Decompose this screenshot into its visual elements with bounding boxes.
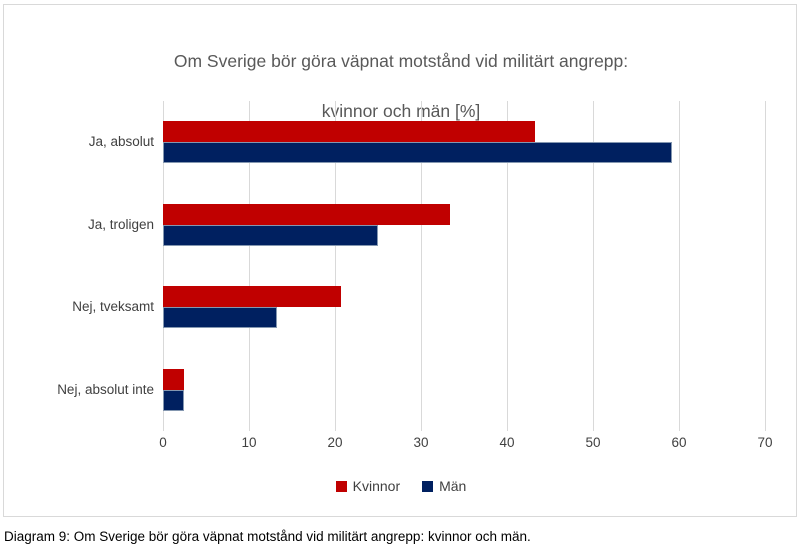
chart-title-line-1: Om Sverige bör göra väpnat motstånd vid … <box>174 51 628 71</box>
x-tick-label-70: 70 <box>745 435 785 450</box>
x-tick-label-50: 50 <box>573 435 613 450</box>
chart-container: Om Sverige bör göra väpnat motstånd vid … <box>3 4 797 517</box>
bar-group-2 <box>163 286 765 328</box>
x-tick-label-10: 10 <box>229 435 269 450</box>
x-tick-label-30: 30 <box>401 435 441 450</box>
category-label-2: Nej, tveksamt <box>4 299 154 315</box>
bar-kvinnor-3[interactable] <box>163 369 184 390</box>
legend-item-män[interactable]: Män <box>422 478 466 494</box>
chart-page: Om Sverige bör göra väpnat motstånd vid … <box>0 0 803 558</box>
legend-swatch-icon-män <box>422 481 433 492</box>
bar-group-0 <box>163 121 765 163</box>
legend-swatch-icon-kvinnor <box>336 481 347 492</box>
bar-män-3[interactable] <box>163 390 184 411</box>
figure-caption: Diagram 9: Om Sverige bör göra väpnat mo… <box>4 528 799 546</box>
category-label-1: Ja, troligen <box>4 217 154 233</box>
x-tick-label-40: 40 <box>487 435 527 450</box>
x-tick-label-60: 60 <box>659 435 699 450</box>
bar-män-1[interactable] <box>163 225 378 246</box>
plot-area <box>163 101 774 431</box>
bar-kvinnor-0[interactable] <box>163 121 535 142</box>
bar-män-2[interactable] <box>163 307 277 328</box>
x-axis-tick-labels: 010203040506070 <box>163 435 783 455</box>
legend-label-kvinnor: Kvinnor <box>353 478 400 494</box>
bar-män-0[interactable] <box>163 142 672 163</box>
category-label-3: Nej, absolut inte <box>4 382 154 398</box>
category-label-0: Ja, absolut <box>4 134 154 150</box>
legend-item-kvinnor[interactable]: Kvinnor <box>336 478 400 494</box>
x-tick-label-0: 0 <box>143 435 183 450</box>
bar-group-1 <box>163 204 765 246</box>
bar-kvinnor-1[interactable] <box>163 204 450 225</box>
bar-group-3 <box>163 369 765 411</box>
legend-label-män: Män <box>439 478 466 494</box>
x-tick-label-20: 20 <box>315 435 355 450</box>
plot-inner <box>163 101 765 431</box>
chart-legend: KvinnorMän <box>4 478 798 494</box>
gridline-70 <box>765 101 766 431</box>
y-axis-category-labels: Ja, absolutJa, troligenNej, tveksamtNej,… <box>4 101 154 431</box>
bar-kvinnor-2[interactable] <box>163 286 341 307</box>
